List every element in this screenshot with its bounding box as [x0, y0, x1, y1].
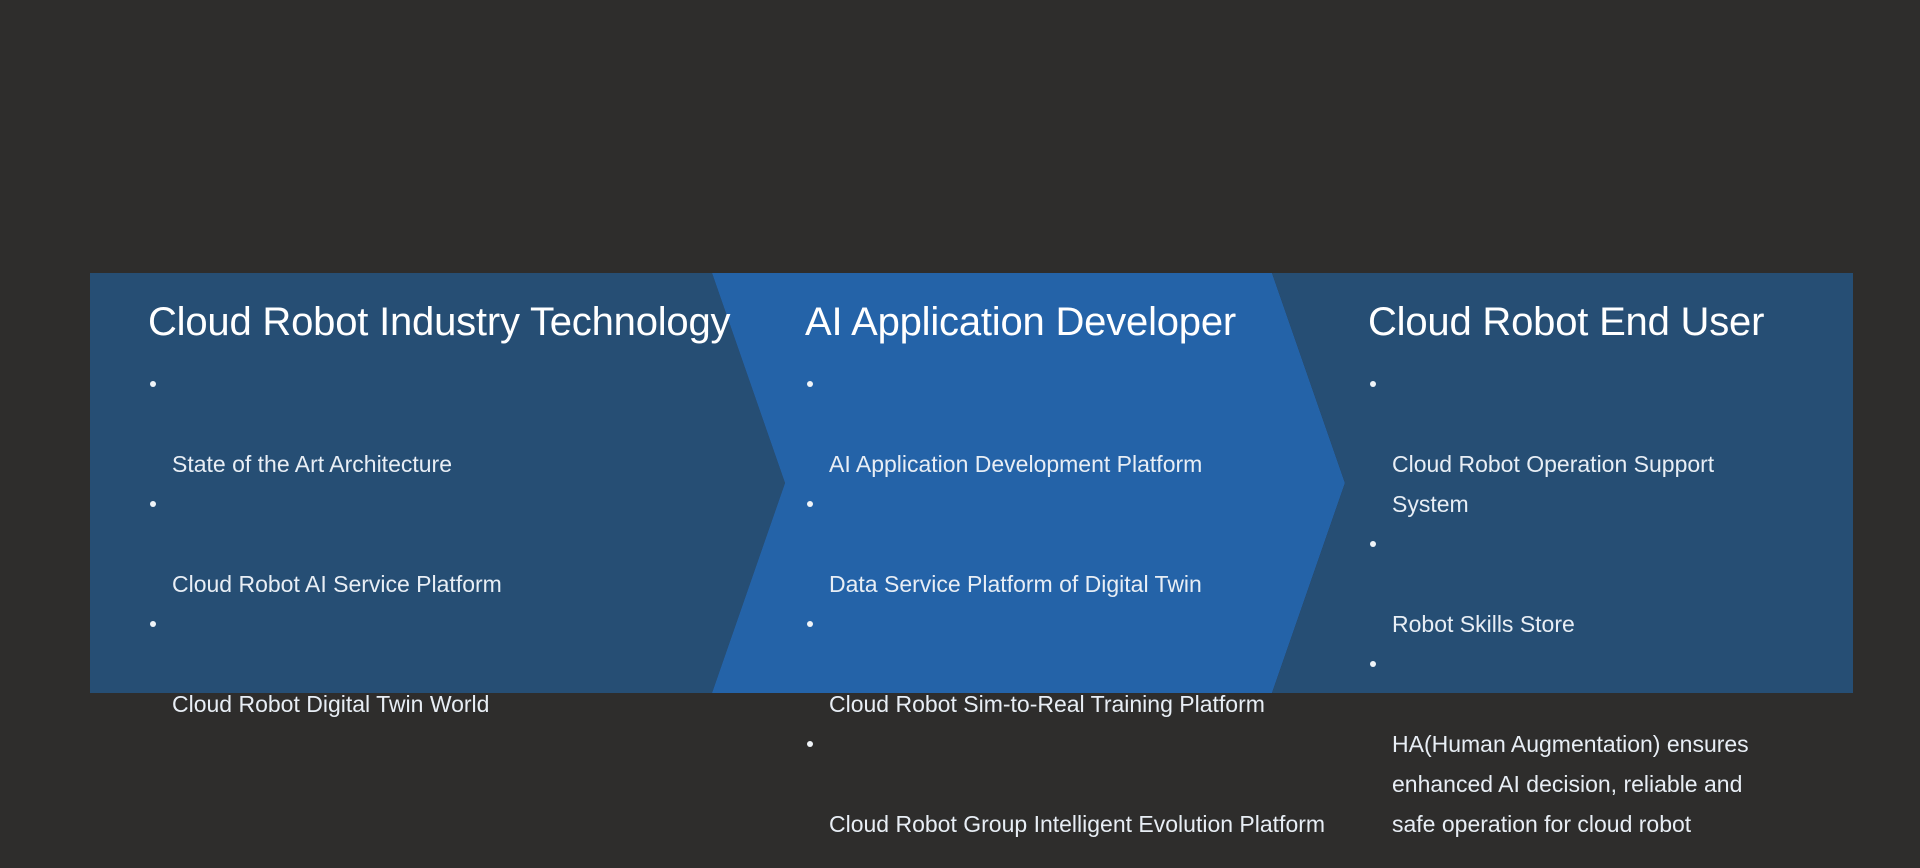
bullet-list-cloud-robot-end-user: Cloud Robot Operation Support System Rob…: [1368, 364, 1792, 844]
list-item: State of the Art Architecture: [148, 364, 502, 484]
list-item-label: Cloud Robot AI Service Platform: [172, 571, 502, 597]
list-item: HA(Human Augmentation) ensures enhanced …: [1368, 644, 1792, 844]
list-item-label: Robot Skills Store: [1392, 611, 1575, 637]
bullet-list-industry-technology: State of the Art Architecture Cloud Robo…: [148, 364, 502, 724]
list-item-label: Cloud Robot Digital Twin World: [172, 691, 489, 717]
list-item-label: Cloud Robot Sim-to-Real Training Platfor…: [829, 691, 1265, 717]
list-item-label: AI Application Development Platform: [829, 451, 1202, 477]
list-item-label: Data Service Platform of Digital Twin: [829, 571, 1202, 597]
panel-cloud-robot-end-user: Cloud Robot End User Cloud Robot Operati…: [1368, 273, 1838, 693]
list-item: Robot Skills Store: [1368, 524, 1792, 644]
bullet-dot-icon: [1370, 661, 1376, 667]
bullet-dot-icon: [150, 501, 156, 507]
bullet-dot-icon: [1370, 541, 1376, 547]
bullet-dot-icon: [807, 621, 813, 627]
process-flow-banner: Cloud Robot Industry Technology State of…: [90, 273, 1853, 693]
panel-title-cloud-robot-end-user: Cloud Robot End User: [1368, 299, 1764, 345]
list-item-label: HA(Human Augmentation) ensures enhanced …: [1392, 731, 1749, 837]
list-item-label: State of the Art Architecture: [172, 451, 452, 477]
panel-ai-application-developer: AI Application Developer AI Application …: [805, 273, 1365, 693]
list-item: Cloud Robot Sim-to-Real Training Platfor…: [805, 604, 1325, 724]
bullet-dot-icon: [807, 741, 813, 747]
list-item: AI Application Development Platform: [805, 364, 1325, 484]
slide-canvas: Cloud Robot Industry Technology State of…: [0, 0, 1920, 868]
list-item: Data Service Platform of Digital Twin: [805, 484, 1325, 604]
bullet-dot-icon: [150, 381, 156, 387]
panel-title-ai-application-developer: AI Application Developer: [805, 299, 1236, 345]
bullet-dot-icon: [807, 501, 813, 507]
list-item: Cloud Robot Digital Twin World: [148, 604, 502, 724]
list-item: Cloud Robot Group Intelligent Evolution …: [805, 724, 1325, 844]
bullet-dot-icon: [807, 381, 813, 387]
list-item-label: Cloud Robot Group Intelligent Evolution …: [829, 811, 1325, 837]
panel-title-industry-technology: Cloud Robot Industry Technology: [148, 299, 730, 345]
bullet-dot-icon: [1370, 381, 1376, 387]
bullet-dot-icon: [150, 621, 156, 627]
list-item: Cloud Robot AI Service Platform: [148, 484, 502, 604]
bullet-list-ai-application-developer: AI Application Development Platform Data…: [805, 364, 1325, 844]
list-item-label: Cloud Robot Operation Support System: [1392, 451, 1714, 517]
panel-cloud-robot-industry-technology: Cloud Robot Industry Technology State of…: [148, 273, 708, 693]
list-item: Cloud Robot Operation Support System: [1368, 364, 1792, 524]
